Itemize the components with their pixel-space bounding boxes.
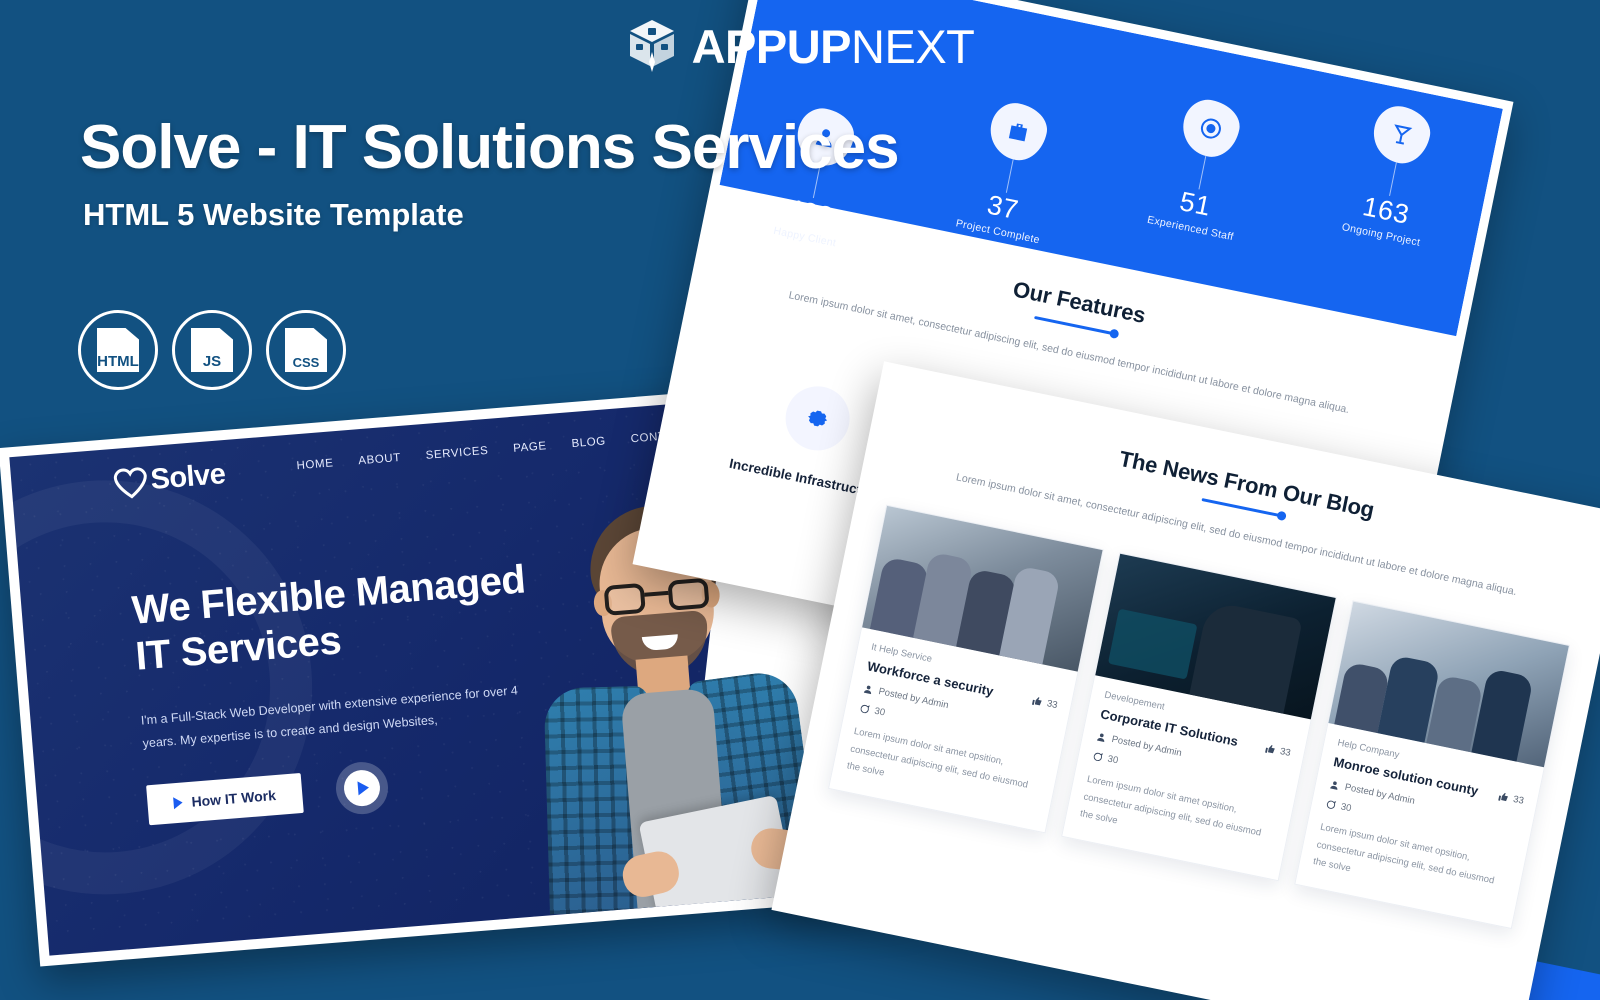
blog-screenshot-mockup: The News From Our Blog Lorem ipsum dolor… [771, 361, 1600, 1000]
page-title: Solve - IT Solutions Services [80, 112, 899, 183]
comment-icon [858, 703, 871, 716]
brand-name-strong: APPUP [692, 20, 851, 73]
trophy-icon [1368, 102, 1434, 168]
html-badge: HTML [78, 310, 158, 390]
user-icon [862, 683, 875, 696]
html-badge-label: HTML [97, 353, 139, 370]
stat-ongoing-project: 163 Ongoing Project [1288, 89, 1500, 260]
play-icon [173, 797, 183, 810]
blog-likes: 33 [1498, 791, 1525, 807]
tech-badges: HTML JS CSS [78, 310, 346, 390]
play-icon [357, 781, 369, 796]
page-subtitle: HTML 5 Website Template [83, 197, 464, 233]
hero-heading: We Flexible Managed IT Services [130, 556, 530, 680]
comment-icon [1324, 798, 1337, 811]
brand-header: APPUPNEXT [0, 18, 1600, 74]
briefcase-icon [985, 99, 1051, 165]
css-file-icon: CSS [285, 328, 327, 372]
nav-item-about[interactable]: ABOUT [358, 452, 401, 467]
blog-card[interactable]: It Help Service Workforce a security 33 … [828, 505, 1104, 834]
nav-item-home[interactable]: HOME [296, 457, 334, 472]
stat-experienced-staff: 51 Experienced Staff [1097, 82, 1309, 253]
blog-comments-count: 30 [873, 706, 886, 719]
video-play-button[interactable] [334, 760, 390, 816]
brand-name: APPUPNEXT [692, 23, 975, 70]
thumbs-up-icon [1498, 791, 1511, 804]
nav-item-services[interactable]: SERVICES [425, 445, 489, 462]
stat-value: 37 [984, 190, 1021, 227]
brand-name-light: NEXT [851, 20, 974, 73]
html-file-icon: HTML [97, 328, 139, 372]
thumbs-up-icon [1031, 695, 1044, 708]
js-file-icon: JS [191, 328, 233, 372]
nav-item-page[interactable]: PAGE [513, 440, 547, 455]
js-badge: JS [172, 310, 252, 390]
blog-comments-count: 30 [1340, 802, 1353, 815]
target-icon [1178, 95, 1244, 161]
user-icon [1095, 731, 1108, 744]
comment-icon [1091, 751, 1104, 764]
js-badge-label: JS [191, 353, 233, 370]
nav-item-blog[interactable]: BLOG [571, 435, 606, 450]
blog-card[interactable]: Developement Corporate IT Solutions 33 P… [1061, 553, 1337, 882]
user-icon [1328, 779, 1341, 792]
blog-likes-count: 33 [1046, 698, 1059, 711]
how-it-work-button[interactable]: How IT Work [146, 773, 303, 825]
css-badge-label: CSS [285, 355, 327, 370]
hero-paragraph: I'm a Full-Stack Web Developer with exte… [140, 678, 532, 755]
blog-likes-count: 33 [1512, 794, 1525, 807]
site-logo-text: Solve [149, 458, 226, 497]
css-badge: CSS [266, 310, 346, 390]
blog-likes: 33 [1264, 743, 1291, 759]
stat-value: 423 [784, 193, 836, 233]
heart-cloud-icon [112, 465, 148, 500]
blog-card[interactable]: Help Company Monroe solution county 33 P… [1294, 600, 1570, 929]
gear-icon [780, 381, 856, 457]
blog-likes: 33 [1031, 695, 1058, 711]
stat-value: 51 [1177, 186, 1214, 223]
stat-value: 163 [1360, 191, 1412, 231]
blog-comments-count: 30 [1107, 754, 1120, 767]
site-logo[interactable]: Solve [112, 458, 226, 500]
cube-logo-icon [626, 18, 678, 74]
how-it-work-label: How IT Work [191, 787, 277, 810]
hero-cta-group: How IT Work [146, 760, 390, 831]
blog-likes-count: 33 [1279, 746, 1292, 759]
thumbs-up-icon [1264, 743, 1277, 756]
